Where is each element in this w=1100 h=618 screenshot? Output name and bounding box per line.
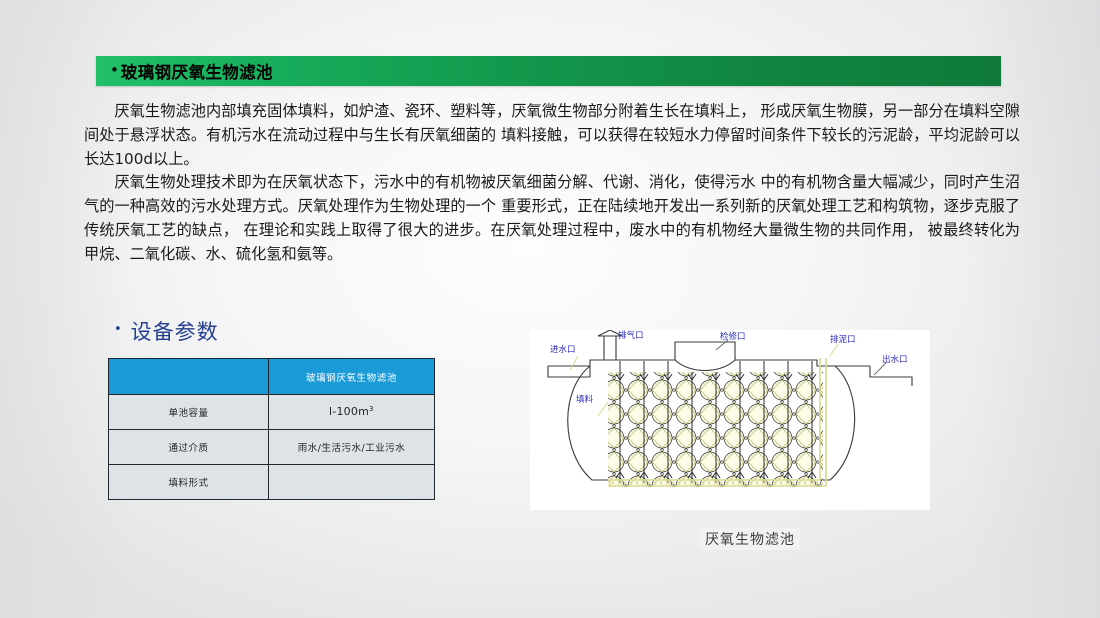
label-gas-vent: 排气口	[618, 330, 644, 341]
table-header-cell-product: 玻璃钢厌氧生物滤池	[269, 359, 435, 395]
params-section-heading: • 设备参数	[114, 316, 219, 346]
row-label-packing-type: 填料形式	[109, 465, 269, 500]
table-header-row: 玻璃钢厌氧生物滤池	[109, 359, 435, 395]
paragraph-2: 厌氧生物处理技术即为在厌氧状态下，污水中的有机物被厌氧细菌分解、代谢、消化，使得…	[84, 171, 1020, 266]
params-heading-label: 设备参数	[131, 316, 219, 346]
anaerobic-filter-diagram: 进水口 排气口 检修口 排泥口 出水口 填料	[530, 330, 930, 510]
diagram-svg: 进水口 排气口 检修口 排泥口 出水口 填料	[530, 330, 930, 510]
table-row: 单池容量 l-100m3	[109, 395, 435, 430]
row-value-packing-type	[269, 465, 435, 500]
title-bullet-icon: •	[110, 63, 119, 78]
slide-title-bar: • 玻璃钢厌氧生物滤池	[96, 56, 1001, 86]
page-title: 玻璃钢厌氧生物滤池	[121, 59, 273, 83]
table-row: 通过介质 雨水/生活污水/工业污水	[109, 430, 435, 465]
table-header-cell-blank	[109, 359, 269, 395]
inspection-hatch	[675, 342, 735, 360]
row-label-medium: 通过介质	[109, 430, 269, 465]
slide-canvas: • 玻璃钢厌氧生物滤池 厌氧生物滤池内部填充固体填料，如炉渣、瓷环、塑料等，厌氧…	[0, 0, 1100, 618]
label-outlet: 出水口	[882, 354, 908, 365]
capacity-value: l-100m	[329, 406, 369, 419]
body-copy: 厌氧生物滤池内部填充固体填料，如炉渣、瓷环、塑料等，厌氧微生物部分附着生长在填料…	[84, 100, 1020, 267]
heading-bullet-icon: •	[114, 323, 123, 336]
table-row: 填料形式	[109, 465, 435, 500]
label-packing: 填料	[576, 394, 594, 405]
row-value-capacity: l-100m3	[269, 395, 435, 430]
label-inspection: 检修口	[720, 331, 746, 342]
paragraph-1: 厌氧生物滤池内部填充固体填料，如炉渣、瓷环、塑料等，厌氧微生物部分附着生长在填料…	[84, 100, 1020, 171]
label-sludge-outlet: 排泥口	[830, 334, 856, 345]
diagram-caption: 厌氧生物滤池	[700, 528, 800, 550]
row-value-medium: 雨水/生活污水/工业污水	[269, 430, 435, 465]
label-inlet: 进水口	[550, 344, 576, 355]
equipment-params-table: 玻璃钢厌氧生物滤池 单池容量 l-100m3 通过介质 雨水/生活污水/工业污水…	[108, 358, 435, 500]
capacity-unit-exponent: 3	[369, 405, 374, 413]
row-label-capacity: 单池容量	[109, 395, 269, 430]
